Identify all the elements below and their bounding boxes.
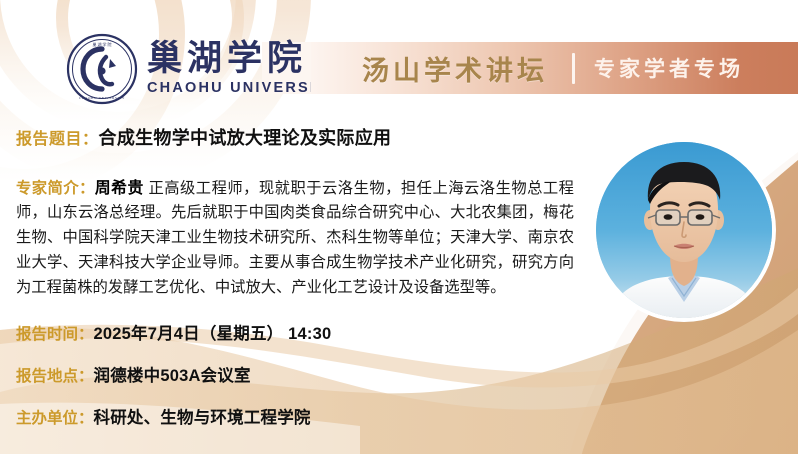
lecture-time-value: 2025年7月4日（星期五） 14:30 bbox=[94, 325, 332, 343]
lecture-series-banner: 汤山学术讲坛 专家学者专场 bbox=[311, 42, 798, 94]
banner-divider bbox=[572, 53, 575, 84]
speaker-bio-row: 专家简介：周希贵 正高级工程师，现就职于云洛生物，担任上海云洛生物总工程师，山东… bbox=[0, 150, 600, 301]
lecture-time-row: 报告时间：2025年7月4日（星期五） 14:30 bbox=[16, 325, 576, 345]
chaohu-university-seal-icon: 巢 湖 学 院 CHAOHU UNIVERSITY bbox=[66, 33, 138, 105]
speaker-bio-label: 专家简介： bbox=[16, 180, 95, 197]
lecture-venue-row: 报告地点：润德楼中503A会议室 bbox=[16, 367, 576, 387]
poster-canvas: 巢 湖 学 院 CHAOHU UNIVERSITY 巢湖学院 CHAOHU UN… bbox=[0, 0, 798, 454]
lecture-time-label: 报告时间： bbox=[16, 326, 94, 343]
lecture-venue-value: 润德楼中503A会议室 bbox=[94, 367, 251, 385]
lecture-organizer-row: 主办单位：科研处、生物与环境工程学院 bbox=[16, 409, 576, 429]
poster-content: 报告题目：合成生物学中试放大理论及实际应用 专家简介：周希贵 正高级工程师，现就… bbox=[0, 118, 600, 300]
poster-header: 巢 湖 学 院 CHAOHU UNIVERSITY 巢湖学院 CHAOHU UN… bbox=[0, 0, 798, 112]
svg-text:巢 湖 学 院: 巢 湖 学 院 bbox=[93, 41, 112, 47]
speaker-bio-text: 正高级工程师，现就职于云洛生物，担任上海云洛生物总工程师，山东云洛总经理。先后就… bbox=[16, 180, 574, 296]
lecture-title-row: 报告题目：合成生物学中试放大理论及实际应用 bbox=[0, 118, 600, 150]
lecture-venue-label: 报告地点： bbox=[16, 368, 94, 385]
lecture-title-value: 合成生物学中试放大理论及实际应用 bbox=[99, 128, 392, 148]
lecture-meta-list: 报告时间：2025年7月4日（星期五） 14:30 报告地点：润德楼中503A会… bbox=[16, 325, 576, 450]
university-logo: 巢 湖 学 院 CHAOHU UNIVERSITY 巢湖学院 CHAOHU UN… bbox=[66, 33, 339, 105]
lecture-organizer-value: 科研处、生物与环境工程学院 bbox=[94, 409, 311, 427]
lecture-title-label: 报告题目： bbox=[16, 131, 99, 148]
svg-text:CHAOHU UNIVERSITY: CHAOHU UNIVERSITY bbox=[79, 96, 125, 100]
speaker-portrait bbox=[596, 142, 772, 318]
speaker-name: 周希贵 bbox=[95, 180, 144, 197]
lecture-organizer-label: 主办单位： bbox=[16, 410, 94, 427]
banner-subtitle: 专家学者专场 bbox=[594, 53, 744, 83]
banner-main-title: 汤山学术讲坛 bbox=[362, 49, 548, 88]
